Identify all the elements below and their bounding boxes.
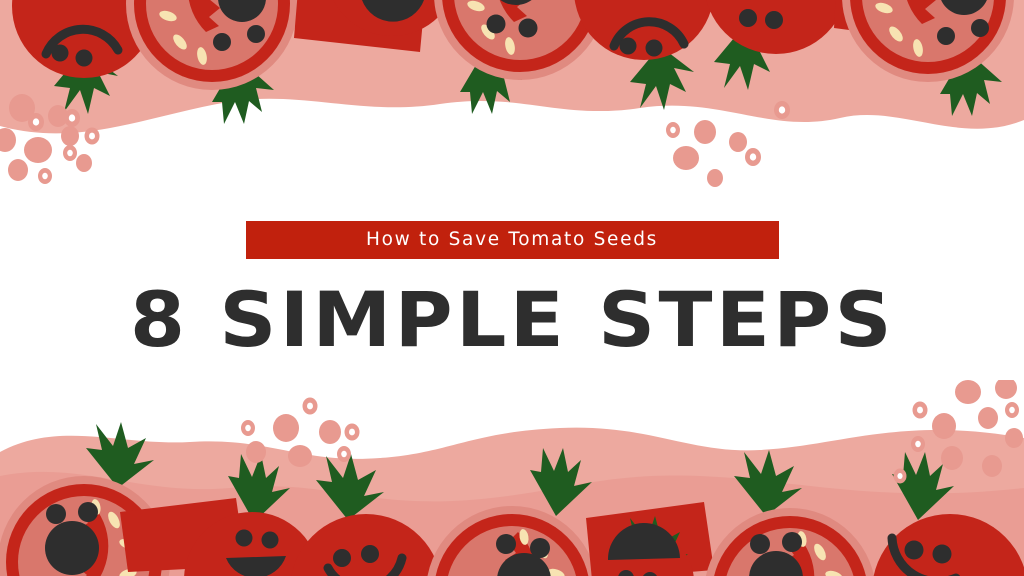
page-title: 8 Simple Steps xyxy=(129,282,894,358)
bottom-tomato-border xyxy=(0,380,1024,576)
pink-speckle-cluster-bottom-middle xyxy=(241,398,360,468)
subtitle-text: How to Save Tomato Seeds xyxy=(366,231,658,250)
top-tomato-border xyxy=(0,0,1024,190)
poster-canvas: How to Save Tomato Seeds 8 Simple Steps xyxy=(0,0,1024,576)
subtitle-banner: How to Save Tomato Seeds xyxy=(246,221,779,259)
